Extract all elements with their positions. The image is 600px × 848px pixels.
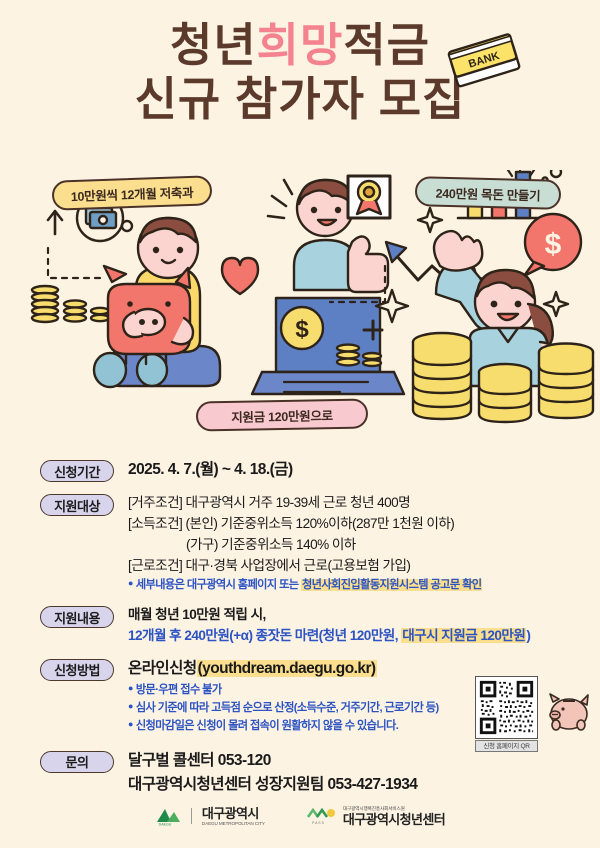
support-line-1: 매월 청년 10만원 적립 시,: [128, 604, 588, 625]
title-line-2: 신규 참가자 모집: [0, 72, 600, 126]
info-row-target: 지원대상 [거주조건] 대구광역시 거주 19-39세 근로 청년 400명 […: [0, 492, 600, 594]
target-note: ●세부내용은 대구광역시 홈페이지 또는 청년사회진입활동지원시스템 공고문 확…: [128, 576, 588, 594]
target-line-1: [거주조건] 대구광역시 거주 19-39세 근로 청년 400명: [128, 492, 588, 513]
logo-daegu-city: DAEGU 대구광역시 DAEGU METROPOLITAN CITY: [155, 806, 265, 826]
daegu-mark-text: DAEGU: [159, 823, 172, 827]
inquiry-line-2: 대구광역시청년센터 성장지원팀 053-427-1934: [128, 773, 588, 797]
value-period: 2025. 4. 7.(월) ~ 4. 18.(금): [128, 458, 588, 482]
method-bullet-1-text: 방문·우편 접수 불가: [136, 684, 222, 696]
label-period: 신청기간: [40, 460, 114, 482]
logo-daegu-name: 대구광역시: [202, 807, 265, 821]
footer-logos: DAEGU 대구광역시 DAEGU METROPOLITAN CITY P A …: [0, 806, 600, 827]
logo-youth-center: P A S S 대구광역시행복진흥사회서비스원 대구광역시청년센터: [307, 806, 445, 827]
support-line-2-highlight: 대구시 지원금 120만원: [401, 628, 526, 643]
qr-code-block[interactable]: 신청 홈페이지 QR: [475, 676, 538, 752]
method-title-pre: 온라인신청: [128, 660, 197, 677]
label-target: 지원대상: [40, 494, 114, 516]
qr-code-icon[interactable]: [475, 676, 538, 739]
speech-bubble-center: 지원금 120만원으로: [196, 399, 368, 432]
title-text-part1: 청년: [170, 19, 257, 71]
target-line-4: [근로조건] 대구·경북 사업장에서 근로(고용보험 가입): [128, 555, 588, 576]
method-url-link[interactable]: (youthdream.daegu.go.kr): [197, 660, 377, 677]
label-support: 지원내용: [40, 606, 114, 628]
target-line-2: [소득조건] (본인) 기준중위소득 120%이하(287만 1천원 이하): [128, 513, 588, 534]
bullet-dot-icon: ●: [128, 701, 133, 711]
target-line-3: (가구) 기준중위소득 140% 이하: [128, 534, 588, 555]
bullet-dot-icon: ●: [128, 578, 133, 588]
target-note-highlight: 청년사회진입활동지원시스템 공고문 확인: [301, 579, 482, 591]
info-row-period: 신청기간 2025. 4. 7.(월) ~ 4. 18.(금): [0, 458, 600, 482]
label-method: 신청방법: [40, 659, 114, 681]
illustration-area: 10만원씩 12개월 저축과 240만원 목돈 만들기 지원금 120만원으로: [0, 170, 600, 445]
piggy-bank-icon: [545, 690, 593, 732]
svg-text:$: $: [295, 316, 309, 343]
info-row-support: 지원내용 매월 청년 10만원 적립 시, 12개월 후 240만원(+α) 종…: [0, 604, 600, 646]
method-bullet-2-text: 심사 기준에 따라 고득점 순으로 산정(소득수준, 거주기간, 근로기간 등): [136, 702, 439, 714]
target-note-text: 세부내용은 대구광역시 홈페이지 또는: [136, 579, 301, 591]
speech-bubble-left: 10만원씩 12개월 저축과: [52, 175, 213, 211]
svg-text:$: $: [545, 228, 562, 261]
poster-root: 청년희망적금 신규 참가자 모집 BANK 10만원씩 12개월 저축과 240…: [0, 0, 600, 848]
speech-bubble-right: 240만원 목돈 만들기: [415, 176, 562, 210]
qr-caption: 신청 홈페이지 QR: [475, 740, 538, 752]
pass-mark-text: P A S S: [312, 821, 325, 825]
logo-youth-name: 대구광역시청년센터: [343, 813, 445, 827]
support-line-2: 12개월 후 240만원(+α) 종잣돈 마련(청년 120만원, 대구시 지원…: [128, 625, 588, 646]
info-section: 신청기간 2025. 4. 7.(월) ~ 4. 18.(금) 지원대상 [거주…: [0, 458, 600, 807]
title-text-accent: 희망: [257, 19, 344, 71]
title-text-part2: 적금: [343, 19, 430, 71]
inquiry-line-1: 달구벌 콜센터 053-120: [128, 749, 588, 773]
info-row-inquiry: 문의 달구벌 콜센터 053-120 대구광역시청년센터 성장지원팀 053-4…: [0, 749, 600, 797]
support-line-2-pre: 12개월 후 240만원(+α) 종잣돈 마련(청년 120만원,: [128, 628, 401, 643]
logo-daegu-subtitle: DAEGU METROPOLITAN CITY: [202, 821, 265, 826]
support-line-2-post: ): [526, 628, 530, 643]
bullet-dot-icon: ●: [128, 719, 133, 729]
method-bullet-3-text: 신청마감일은 신청이 몰려 접속이 원활하지 않을 수 있습니다.: [136, 720, 398, 732]
pass-chevron-icon: P A S S: [307, 806, 337, 826]
bullet-dot-icon: ●: [128, 683, 133, 693]
label-inquiry: 문의: [40, 751, 114, 773]
logo-divider: [191, 808, 192, 824]
daegu-mountain-icon: DAEGU: [155, 806, 181, 826]
